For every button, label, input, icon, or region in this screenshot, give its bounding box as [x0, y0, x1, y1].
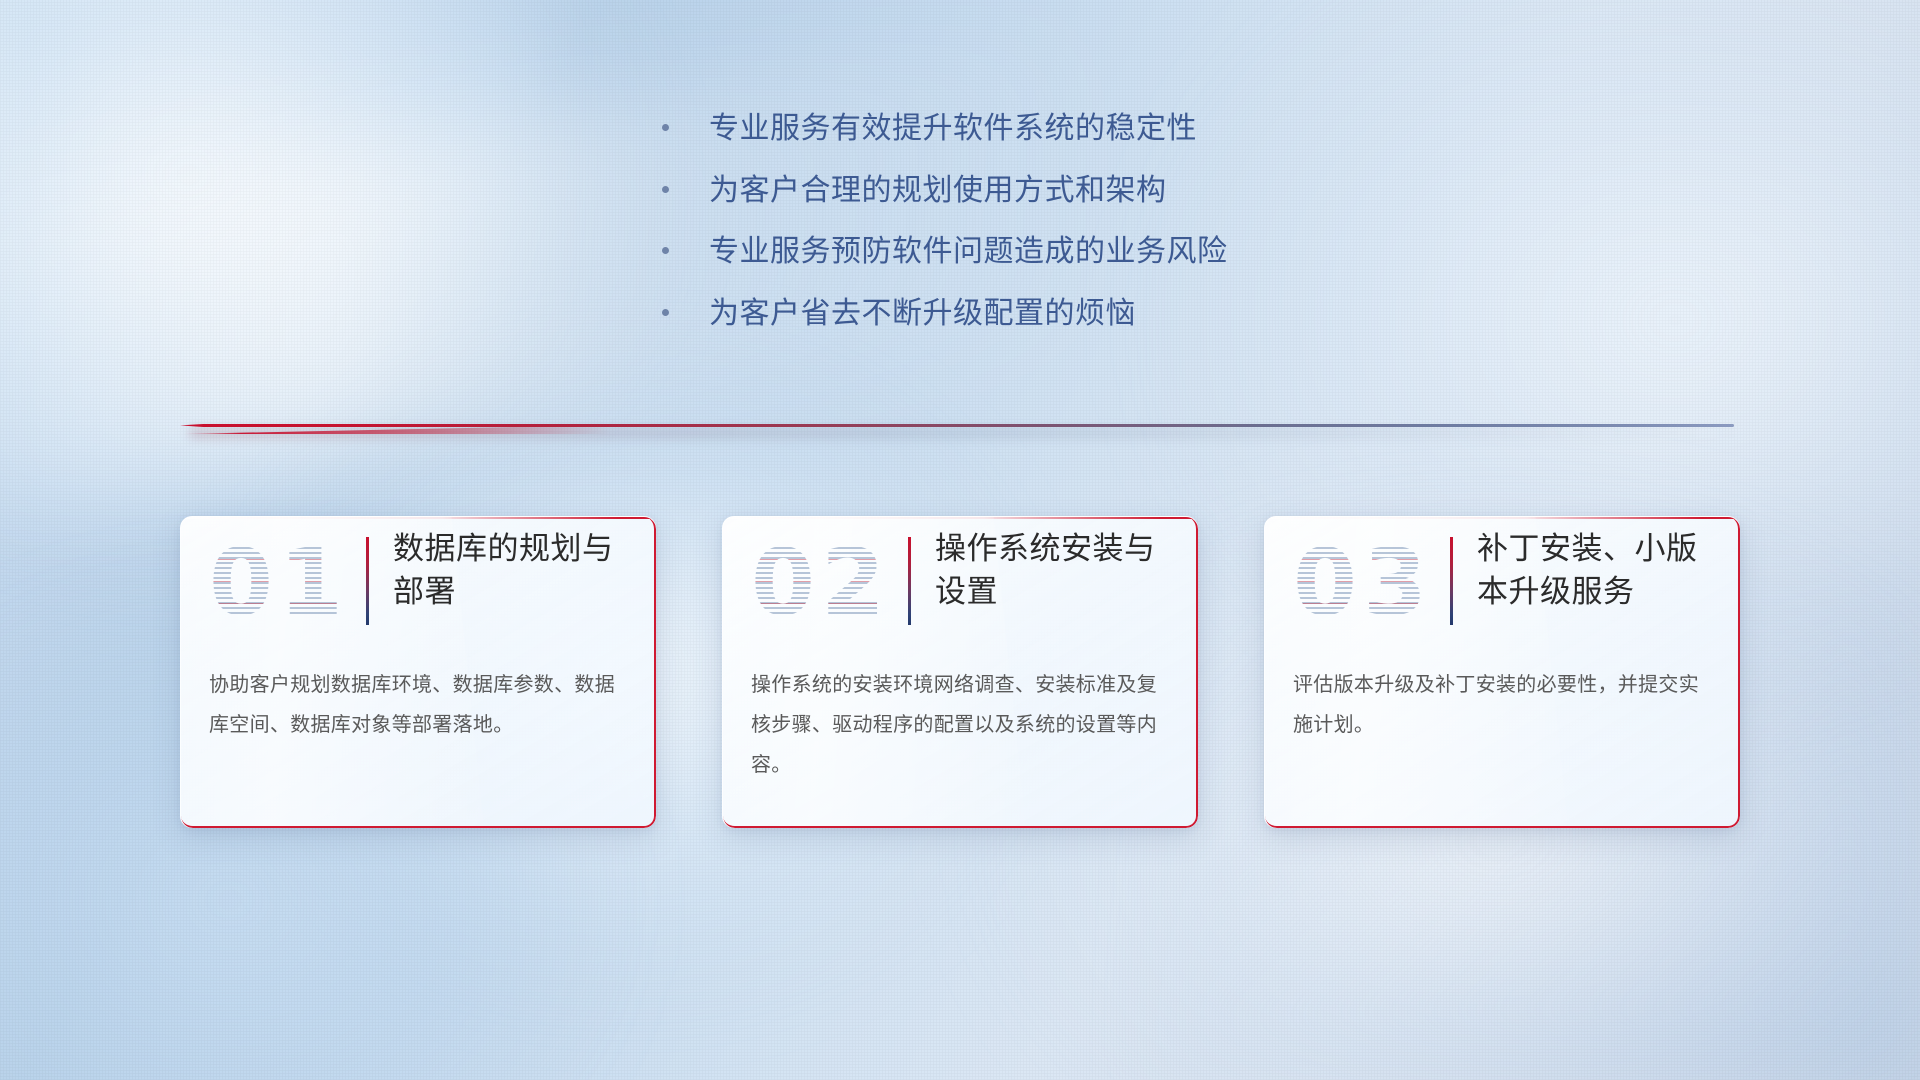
card-number-watermark-tint: 01	[209, 537, 349, 629]
bullet-dot-icon	[662, 124, 669, 131]
service-card[interactable]: 02 02 操作系统安装与设置 操作系统的安装环境网络调查、安装标准及复核步骤、…	[722, 516, 1198, 828]
card-accent-bar	[366, 537, 369, 625]
card-accent-bar	[1450, 537, 1453, 625]
card-description: 协助客户规划数据库环境、数据库参数、数据库空间、数据库对象等部署落地。	[209, 665, 628, 745]
card-title: 数据库的规划与部署	[393, 527, 643, 614]
bullet-item-text: 专业服务预防软件问题造成的业务风险	[709, 233, 1228, 271]
service-card-list: 01 01 数据库的规划与部署 协助客户规划数据库环境、数据库参数、数据库空间、…	[180, 516, 1740, 828]
benefits-bullet-list: 专业服务有效提升软件系统的稳定性 为客户合理的规划使用方式和架构 专业服务预防软…	[662, 110, 1228, 332]
divider-line	[180, 424, 1734, 427]
card-description: 操作系统的安装环境网络调查、安装标准及复核步骤、驱动程序的配置以及系统的设置等内…	[751, 665, 1170, 785]
card-header: 03 03 补丁安装、小版本升级服务	[1265, 517, 1740, 649]
card-header: 02 02 操作系统安装与设置	[723, 517, 1198, 649]
bullet-dot-icon	[662, 186, 669, 193]
card-accent-bar	[908, 537, 911, 625]
bullet-item: 专业服务预防软件问题造成的业务风险	[662, 233, 1228, 271]
card-number-watermark-tint: 03	[1293, 537, 1433, 629]
bullet-dot-icon	[662, 309, 669, 316]
bullet-item-text: 为客户合理的规划使用方式和架构	[709, 172, 1167, 210]
card-header: 01 01 数据库的规划与部署	[181, 517, 656, 649]
bullet-item: 为客户省去不断升级配置的烦恼	[662, 295, 1228, 333]
service-card[interactable]: 01 01 数据库的规划与部署 协助客户规划数据库环境、数据库参数、数据库空间、…	[180, 516, 656, 828]
bullet-item-text: 为客户省去不断升级配置的烦恼	[709, 295, 1136, 333]
bullet-item: 为客户合理的规划使用方式和架构	[662, 172, 1228, 210]
bullet-dot-icon	[662, 247, 669, 254]
card-description: 评估版本升级及补丁安装的必要性，并提交实施计划。	[1293, 665, 1712, 745]
bullet-item: 专业服务有效提升软件系统的稳定性	[662, 110, 1228, 148]
section-divider	[180, 418, 1734, 434]
card-number-watermark-tint: 02	[751, 537, 891, 629]
card-title: 补丁安装、小版本升级服务	[1477, 527, 1727, 614]
service-card[interactable]: 03 03 补丁安装、小版本升级服务 评估版本升级及补丁安装的必要性，并提交实施…	[1264, 516, 1740, 828]
bullet-item-text: 专业服务有效提升软件系统的稳定性	[709, 110, 1197, 148]
card-title: 操作系统安装与设置	[935, 527, 1185, 614]
